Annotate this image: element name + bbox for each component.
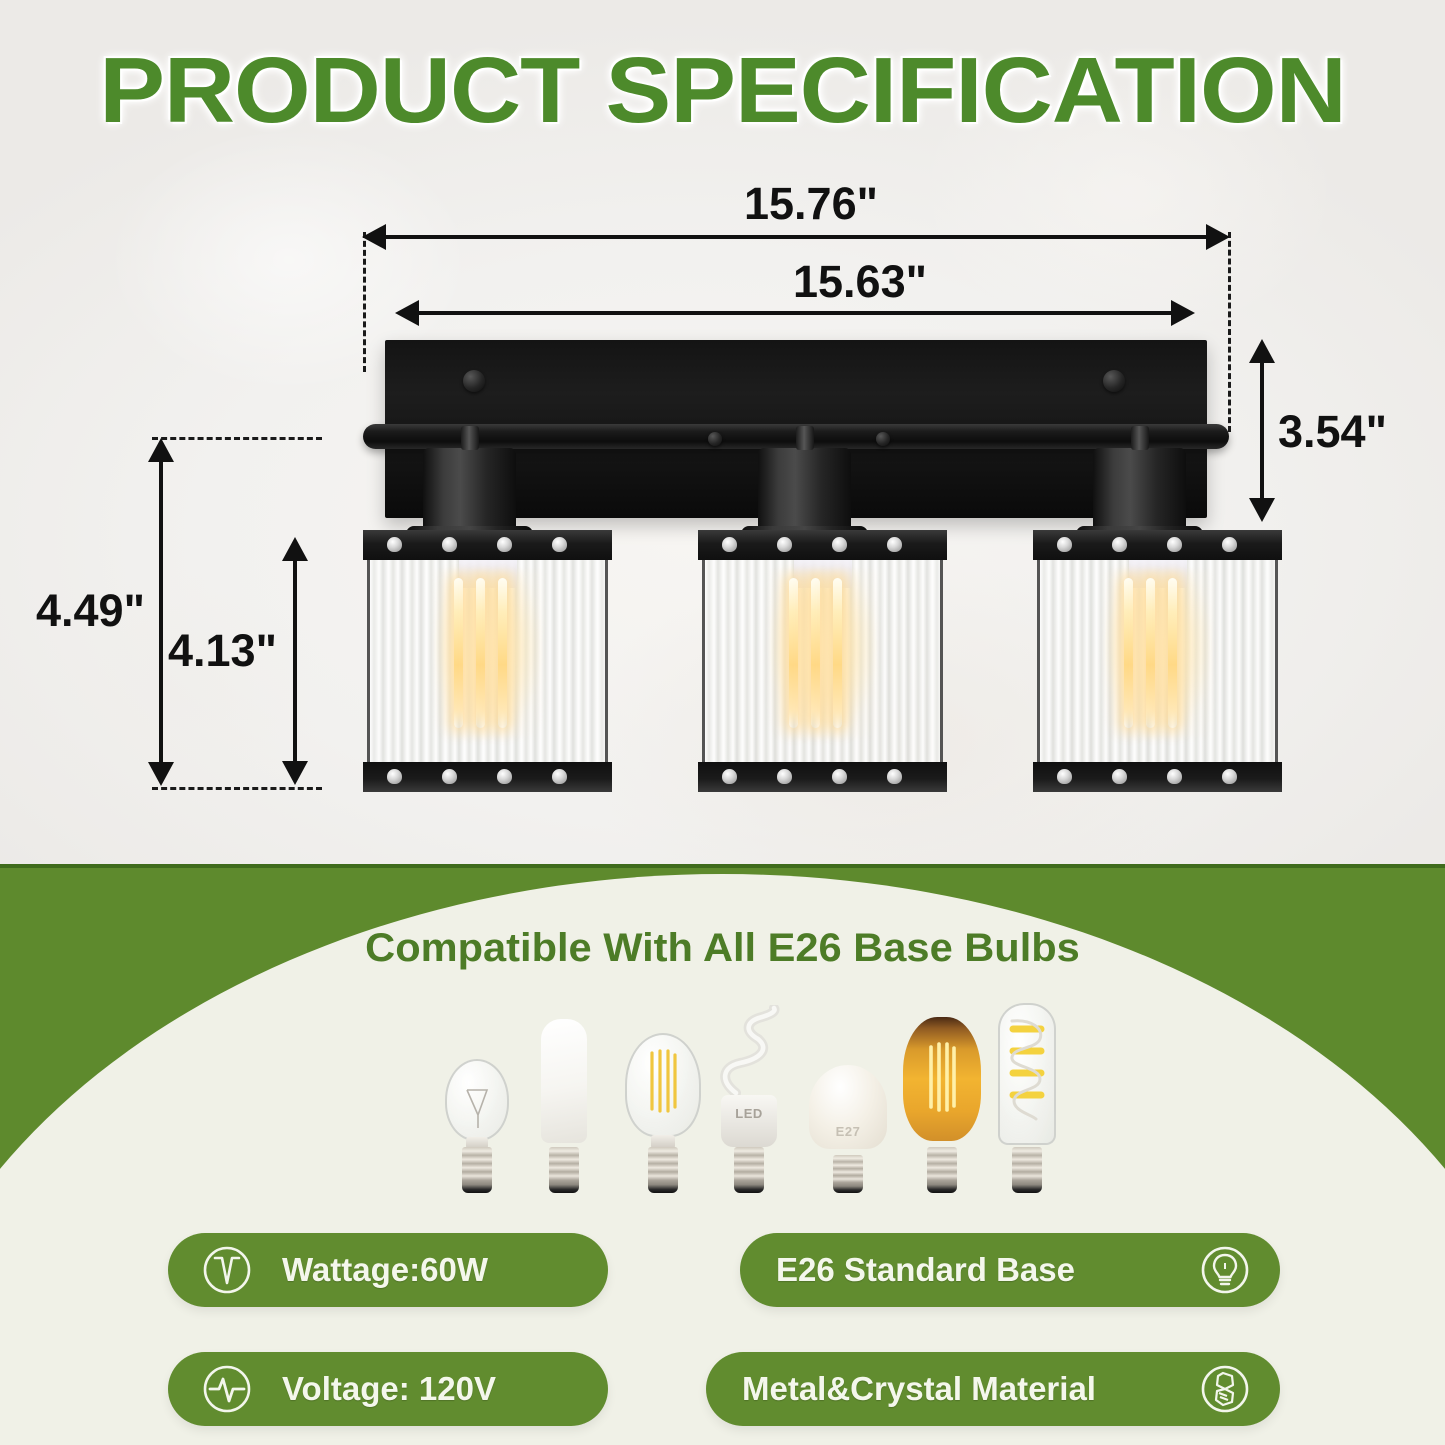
feature-label-wattage: Wattage:60W xyxy=(282,1251,488,1289)
bulb-glow-1 xyxy=(434,570,542,738)
fluted-glass-panel-2 xyxy=(702,544,943,778)
cfl-spiral-icon xyxy=(716,1005,782,1101)
feature-pill-voltage[interactable]: Voltage: 120V xyxy=(168,1352,608,1426)
guide-line-top-height xyxy=(152,437,322,440)
dim-arrowhead-up-shade-height xyxy=(282,537,308,561)
filament-2c xyxy=(833,578,842,728)
guide-line-left-width xyxy=(363,232,366,372)
guide-line-right-width xyxy=(1228,232,1231,432)
filament-2a xyxy=(789,578,798,728)
molecule-circle-icon xyxy=(1200,1364,1250,1414)
dim-arrowhead-up-overall-height xyxy=(148,438,174,462)
backplate-screw-left xyxy=(463,370,485,392)
feature-pill-wattage[interactable]: Wattage:60W xyxy=(168,1233,608,1307)
backplate-screw-mid-right xyxy=(876,432,890,446)
bulb-frosted-mushroom: E27 xyxy=(808,1029,888,1193)
led-filament-icon xyxy=(646,1047,680,1119)
filament-3b xyxy=(1146,578,1155,728)
e26-screw-base xyxy=(1012,1147,1042,1193)
feature-label-voltage: Voltage: 120V xyxy=(282,1370,496,1408)
bulb-lineup: LED E27 xyxy=(430,1005,1030,1205)
crystal-shade-2 xyxy=(698,530,947,792)
fluted-glass-panel-3 xyxy=(1037,544,1278,778)
filament-1a xyxy=(454,578,463,728)
crystal-shade-3 xyxy=(1033,530,1282,792)
shade-top-frame-1 xyxy=(363,530,612,560)
dim-arrowhead-down-depth xyxy=(1249,498,1275,522)
bulb-frosted-tube xyxy=(536,1007,592,1193)
shade-bottom-frame-3 xyxy=(1033,762,1282,792)
feature-label-base: E26 Standard Base xyxy=(776,1251,1075,1289)
guide-line-bottom-height xyxy=(152,787,322,790)
dim-label-overall-height: 4.49" xyxy=(36,585,145,637)
product-photo-section: PRODUCT SPECIFICATION xyxy=(0,0,1445,866)
bulb-label-led: LED xyxy=(735,1106,763,1121)
backplate-screw-right xyxy=(1103,370,1125,392)
dim-label-inner-width: 15.63" xyxy=(793,256,927,308)
socket-holder-1 xyxy=(423,448,516,534)
dim-arrowhead-down-shade-height xyxy=(282,761,308,785)
e26-screw-base xyxy=(833,1155,863,1193)
amber-filament-icon xyxy=(924,1037,960,1121)
feature-label-material: Metal&Crystal Material xyxy=(742,1370,1096,1408)
feature-pill-base[interactable]: E26 Standard Base xyxy=(740,1233,1280,1307)
bulb-glow-2 xyxy=(769,570,877,738)
dim-label-depth: 3.54" xyxy=(1278,406,1387,458)
socket-holder-3 xyxy=(1093,448,1186,534)
dim-arrowhead-right-overall-width xyxy=(1206,224,1230,250)
filament-1c xyxy=(498,578,507,728)
feature-pill-material[interactable]: Metal&Crystal Material xyxy=(706,1352,1280,1426)
waveform-circle-icon xyxy=(202,1364,252,1414)
bulb-label-e27: E27 xyxy=(836,1124,861,1139)
dim-arrowhead-right-inner-width xyxy=(1171,300,1195,326)
dim-line-shade-height xyxy=(293,557,297,765)
bulb-amber-vintage xyxy=(902,997,982,1193)
dim-arrowhead-left-overall-width xyxy=(362,224,386,250)
bulb-led-filament-a19 xyxy=(624,1009,702,1193)
e26-screw-base xyxy=(734,1147,764,1193)
dim-line-depth xyxy=(1260,358,1264,506)
compatibility-heading: Compatible With All E26 Base Bulbs xyxy=(0,926,1445,971)
e26-screw-base xyxy=(648,1147,678,1193)
crystal-shade-1 xyxy=(363,530,612,792)
filament-3a xyxy=(1124,578,1133,728)
dim-arrowhead-up-depth xyxy=(1249,339,1275,363)
e26-screw-base xyxy=(462,1147,492,1193)
page-title: PRODUCT SPECIFICATION xyxy=(0,40,1445,140)
e26-screw-base xyxy=(927,1147,957,1193)
backplate-screw-mid-left xyxy=(708,432,722,446)
dim-label-overall-width: 15.76" xyxy=(744,178,878,230)
socket-holder-2 xyxy=(758,448,851,534)
fluted-glass-panel-1 xyxy=(367,544,608,778)
bulb-glow-3 xyxy=(1104,570,1212,738)
corn-led-strip-icon xyxy=(1006,1013,1048,1131)
dim-label-shade-height: 4.13" xyxy=(168,625,277,677)
dim-arrowhead-down-overall-height xyxy=(148,762,174,786)
shade-top-frame-2 xyxy=(698,530,947,560)
bulb-incandescent-globe xyxy=(444,1027,510,1193)
dim-line-overall-height xyxy=(159,458,163,766)
bulb-cfl-spiral: LED xyxy=(712,1001,786,1193)
section-divider-rule xyxy=(0,864,1445,868)
dim-line-inner-width xyxy=(415,311,1185,315)
filament-3c xyxy=(1168,578,1177,728)
watt-circle-icon xyxy=(202,1245,252,1295)
filament-wire-icon xyxy=(464,1087,490,1131)
vanity-light-fixture xyxy=(363,340,1229,792)
bulb-circle-icon xyxy=(1200,1245,1250,1295)
dim-line-overall-width xyxy=(382,235,1220,239)
filament-1b xyxy=(476,578,485,728)
dim-arrowhead-left-inner-width xyxy=(395,300,419,326)
shade-top-frame-3 xyxy=(1033,530,1282,560)
shade-bottom-frame-2 xyxy=(698,762,947,792)
bulb-led-corn-spiral xyxy=(996,993,1058,1193)
shade-bottom-frame-1 xyxy=(363,762,612,792)
filament-2b xyxy=(811,578,820,728)
e26-screw-base xyxy=(549,1147,579,1193)
